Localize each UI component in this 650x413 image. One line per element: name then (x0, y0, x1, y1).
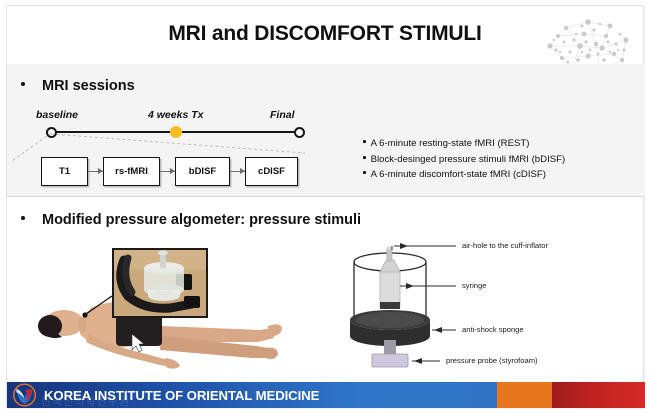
footer-brand-block: 한국한의학연구원 KOREA INSTITUTE OF ORIENTAL MED… (7, 382, 497, 408)
footer-bar: 한국한의학연구원 KOREA INSTITUTE OF ORIENTAL MED… (7, 382, 645, 408)
apparatus-label-syringe: syringe (462, 281, 486, 290)
bullet-dot-icon (363, 171, 366, 174)
footer-watermark: 한국한의학연구원 (41, 393, 130, 408)
slide-canvas: MRI and DISCOMFORT STIMULI (0, 0, 650, 413)
step-arrow-icon (230, 171, 245, 173)
list-item: A 6-minute resting-state fMRI (REST) (363, 136, 633, 152)
pressure-algometer-device-photo (112, 248, 208, 318)
section-heading-algometer: Modified pressure algometer: pressure st… (21, 212, 361, 228)
mri-timeline: baseline 4 weeks Tx Final T1 rs-fMRI bDI… (30, 103, 320, 193)
list-item: A 6-minute discomfort-state fMRI (cDISF) (363, 167, 633, 183)
footer-accent-orange (497, 382, 552, 408)
timeline-step-cdisf: cDISF (245, 157, 298, 186)
algometer-schematic: air-hole to the cuff-inflator syringe an… (336, 240, 642, 372)
note-label: Block-desinged pressure stimuli fMRI (bD… (371, 152, 566, 168)
timeline-label-final: Final (270, 109, 295, 121)
timeline-step-t1: T1 (41, 157, 88, 186)
timeline-label-4weeks: 4 weeks Tx (148, 109, 203, 121)
mri-session-notes: A 6-minute resting-state fMRI (REST) Blo… (363, 136, 633, 183)
bullet-dot-icon (363, 140, 366, 143)
bullet-dot-icon (21, 216, 25, 220)
supine-subject-photo (28, 238, 330, 380)
section-heading-mri-sessions: MRI sessions (21, 78, 135, 94)
apparatus-label-sponge: anti-shock sponge (462, 325, 524, 334)
apparatus-label-air-hole: air-hole to the cuff-inflator (462, 241, 548, 250)
timeline-step-rs-fmri: rs-fMRI (103, 157, 160, 186)
step-arrow-icon (160, 171, 175, 173)
bullet-dot-icon (21, 82, 25, 86)
section-heading-label: Modified pressure algometer: pressure st… (42, 212, 361, 228)
note-label: A 6-minute resting-state fMRI (REST) (371, 136, 530, 152)
step-arrow-icon (88, 171, 103, 173)
kiom-emblem-icon (11, 383, 38, 407)
apparatus-label-probe: pressure probe (styrofoam) (446, 356, 538, 365)
note-label: A 6-minute discomfort-state fMRI (cDISF) (371, 167, 546, 183)
timeline-step-bdisf: bDISF (175, 157, 230, 186)
timeline-label-baseline: baseline (36, 109, 78, 121)
list-item: Block-desinged pressure stimuli fMRI (bD… (363, 152, 633, 168)
footer-accent-red (552, 382, 645, 408)
bullet-dot-icon (363, 156, 366, 159)
section-heading-label: MRI sessions (42, 78, 135, 94)
timeline-step-boxes: T1 rs-fMRI bDISF cDISF (41, 157, 298, 186)
